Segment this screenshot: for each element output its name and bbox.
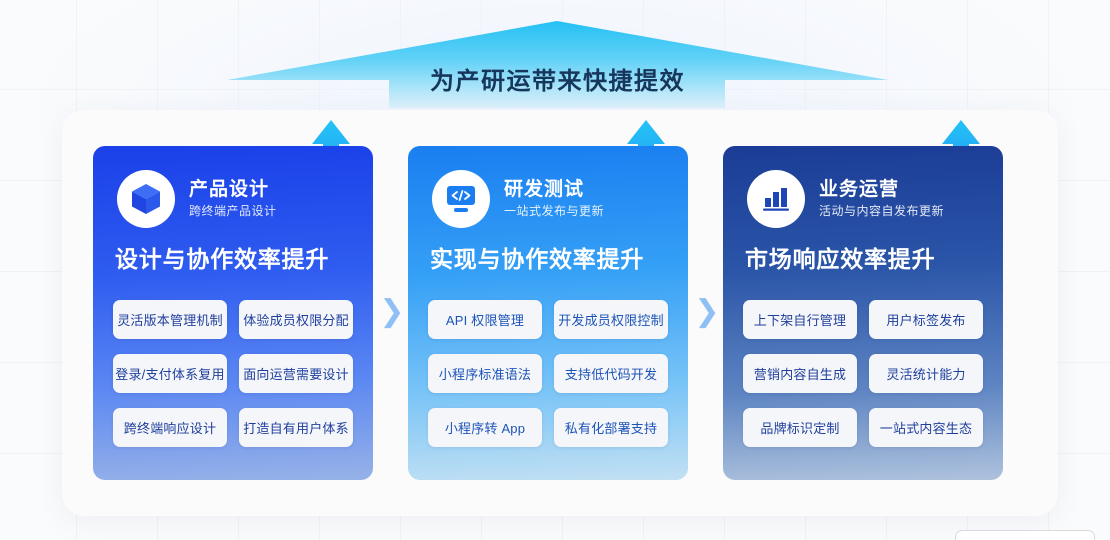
card-subtitle: 跨终端产品设计 <box>189 205 277 218</box>
card-header: 业务运营 活动与内容自发布更新 <box>743 168 983 230</box>
code-monitor-icon <box>432 170 490 228</box>
tag-item[interactable]: 小程序标准语法 <box>428 354 542 393</box>
card-title: 研发测试 <box>504 180 604 201</box>
card-header: 产品设计 跨终端产品设计 <box>113 168 353 230</box>
card-heading: 市场响应效率提升 <box>743 247 983 272</box>
partial-bottom-widget[interactable] <box>955 530 1095 540</box>
tag-item[interactable]: 品牌标识定制 <box>743 408 857 447</box>
tag-grid: 上下架自行管理 用户标签发布 营销内容自生成 灵活统计能力 品牌标识定制 一站式… <box>743 300 983 447</box>
bar-chart-icon <box>747 170 805 228</box>
tag-grid: API 权限管理 开发成员权限控制 小程序标准语法 支持低代码开发 小程序转 A… <box>428 300 668 447</box>
card-subtitle: 一站式发布与更新 <box>504 205 604 218</box>
chevron-right-icon: ❯ <box>693 297 721 329</box>
cube-icon <box>117 170 175 228</box>
tag-item[interactable]: API 权限管理 <box>428 300 542 339</box>
tag-item[interactable]: 开发成员权限控制 <box>554 300 668 339</box>
tag-item[interactable]: 小程序转 App <box>428 408 542 447</box>
card-slot-rd-testing: 研发测试 一站式发布与更新 实现与协作效率提升 API 权限管理 开发成员权限控… <box>408 146 688 480</box>
card-business-operations[interactable]: 业务运营 活动与内容自发布更新 市场响应效率提升 上下架自行管理 用户标签发布 … <box>723 146 1003 480</box>
card-heading: 实现与协作效率提升 <box>428 247 668 272</box>
tag-item[interactable]: 上下架自行管理 <box>743 300 857 339</box>
tag-item[interactable]: 支持低代码开发 <box>554 354 668 393</box>
card-slot-product-design: 产品设计 跨终端产品设计 设计与协作效率提升 灵活版本管理机制 体验成员权限分配… <box>93 146 373 480</box>
tag-item[interactable]: 打造自有用户体系 <box>239 408 353 447</box>
card-product-design[interactable]: 产品设计 跨终端产品设计 设计与协作效率提升 灵活版本管理机制 体验成员权限分配… <box>93 146 373 480</box>
tag-item[interactable]: 用户标签发布 <box>869 300 983 339</box>
tag-item[interactable]: 一站式内容生态 <box>869 408 983 447</box>
tag-item[interactable]: 灵活统计能力 <box>869 354 983 393</box>
card-title: 业务运营 <box>819 180 944 201</box>
card-title: 产品设计 <box>189 180 277 201</box>
tag-item[interactable]: 跨终端响应设计 <box>113 408 227 447</box>
tag-item[interactable]: 体验成员权限分配 <box>239 300 353 339</box>
card-subtitle: 活动与内容自发布更新 <box>819 205 944 218</box>
tag-grid: 灵活版本管理机制 体验成员权限分配 登录/支付体系复用 面向运营需要设计 跨终端… <box>113 300 353 447</box>
tag-item[interactable]: 私有化部署支持 <box>554 408 668 447</box>
tag-item[interactable]: 面向运营需要设计 <box>239 354 353 393</box>
tag-item[interactable]: 灵活版本管理机制 <box>113 300 227 339</box>
card-heading: 设计与协作效率提升 <box>113 247 353 272</box>
chevron-right-icon: ❯ <box>378 297 406 329</box>
cards-row: 产品设计 跨终端产品设计 设计与协作效率提升 灵活版本管理机制 体验成员权限分配… <box>62 110 1058 516</box>
tag-item[interactable]: 营销内容自生成 <box>743 354 857 393</box>
card-rd-testing[interactable]: 研发测试 一站式发布与更新 实现与协作效率提升 API 权限管理 开发成员权限控… <box>408 146 688 480</box>
card-slot-business-operations: 业务运营 活动与内容自发布更新 市场响应效率提升 上下架自行管理 用户标签发布 … <box>723 146 1003 480</box>
tag-item[interactable]: 登录/支付体系复用 <box>113 354 227 393</box>
card-header: 研发测试 一站式发布与更新 <box>428 168 668 230</box>
banner-arrow: 为产研运带来快捷提效 <box>225 16 890 108</box>
banner-title: 为产研运带来快捷提效 <box>225 16 890 108</box>
